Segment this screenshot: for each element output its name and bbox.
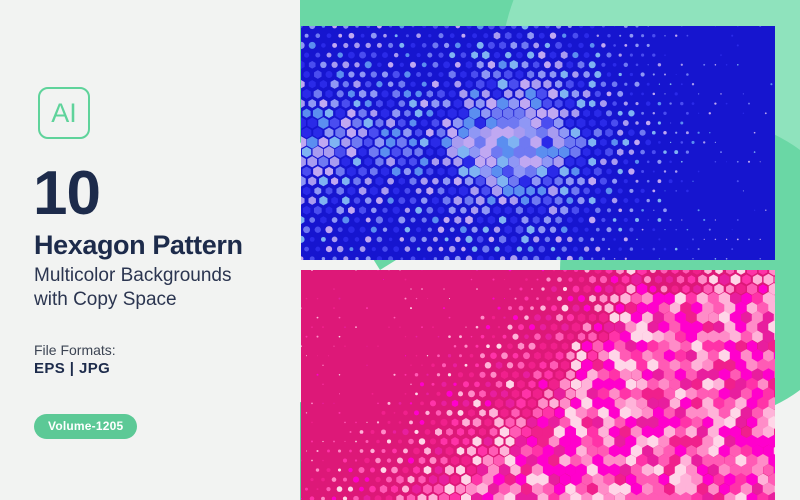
item-count: 10: [33, 163, 100, 225]
subtitle-line-2: with Copy Space: [34, 288, 231, 312]
pink-hexagon-preview[interactable]: [301, 270, 775, 500]
info-panel: AI 10 Hexagon Pattern Multicolor Backgro…: [0, 0, 300, 500]
poster-canvas: AI 10 Hexagon Pattern Multicolor Backgro…: [0, 0, 800, 500]
page-subtitle: Multicolor Backgrounds with Copy Space: [34, 264, 231, 312]
ai-badge-label: AI: [51, 100, 77, 127]
file-formats-label: File Formats:: [34, 342, 116, 358]
blue-hexagon-pattern: [301, 26, 775, 260]
blue-hexagon-preview[interactable]: [301, 26, 775, 260]
volume-badge: Volume-1205: [34, 414, 137, 439]
subtitle-line-1: Multicolor Backgrounds: [34, 264, 231, 288]
file-formats-value: EPS | JPG: [34, 360, 110, 377]
pink-hexagon-pattern: [301, 270, 775, 500]
page-title: Hexagon Pattern: [34, 232, 243, 259]
ai-format-badge: AI: [38, 87, 90, 139]
